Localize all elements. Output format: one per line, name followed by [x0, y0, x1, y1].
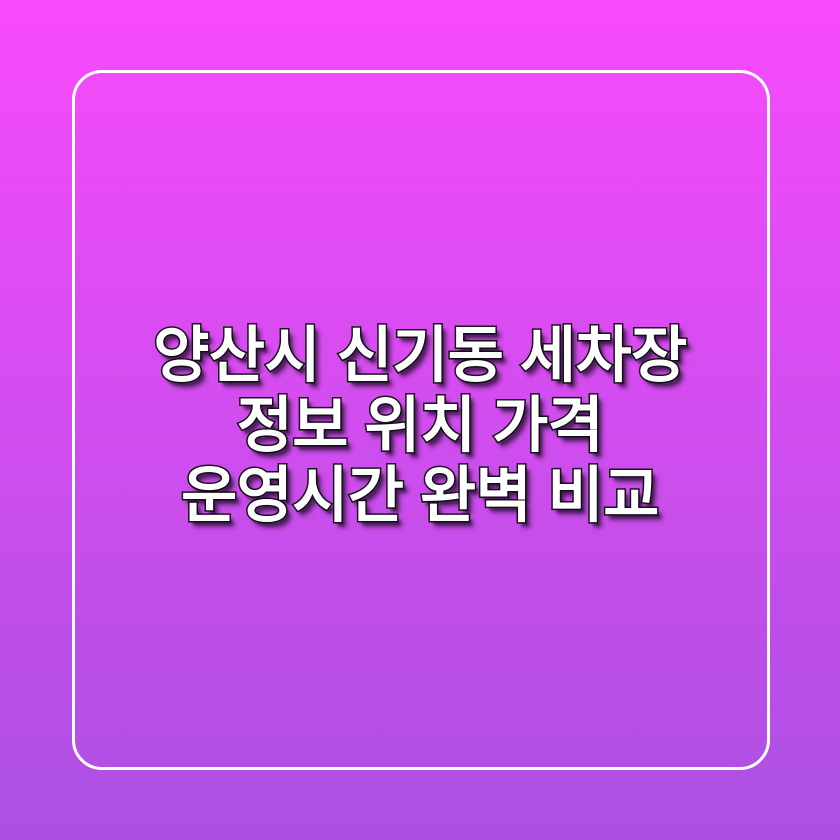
headline-line-3: 운영시간 완벽 비교 [181, 460, 659, 530]
poster-canvas: 양산시 신기동 세차장 정보 위치 가격 운영시간 완벽 비교 [0, 0, 840, 840]
headline-line-1: 양산시 신기동 세차장 [153, 320, 686, 390]
headline-line-2: 정보 위치 가격 [237, 390, 604, 460]
headline-block: 양산시 신기동 세차장 정보 위치 가격 운영시간 완벽 비교 [0, 320, 840, 530]
